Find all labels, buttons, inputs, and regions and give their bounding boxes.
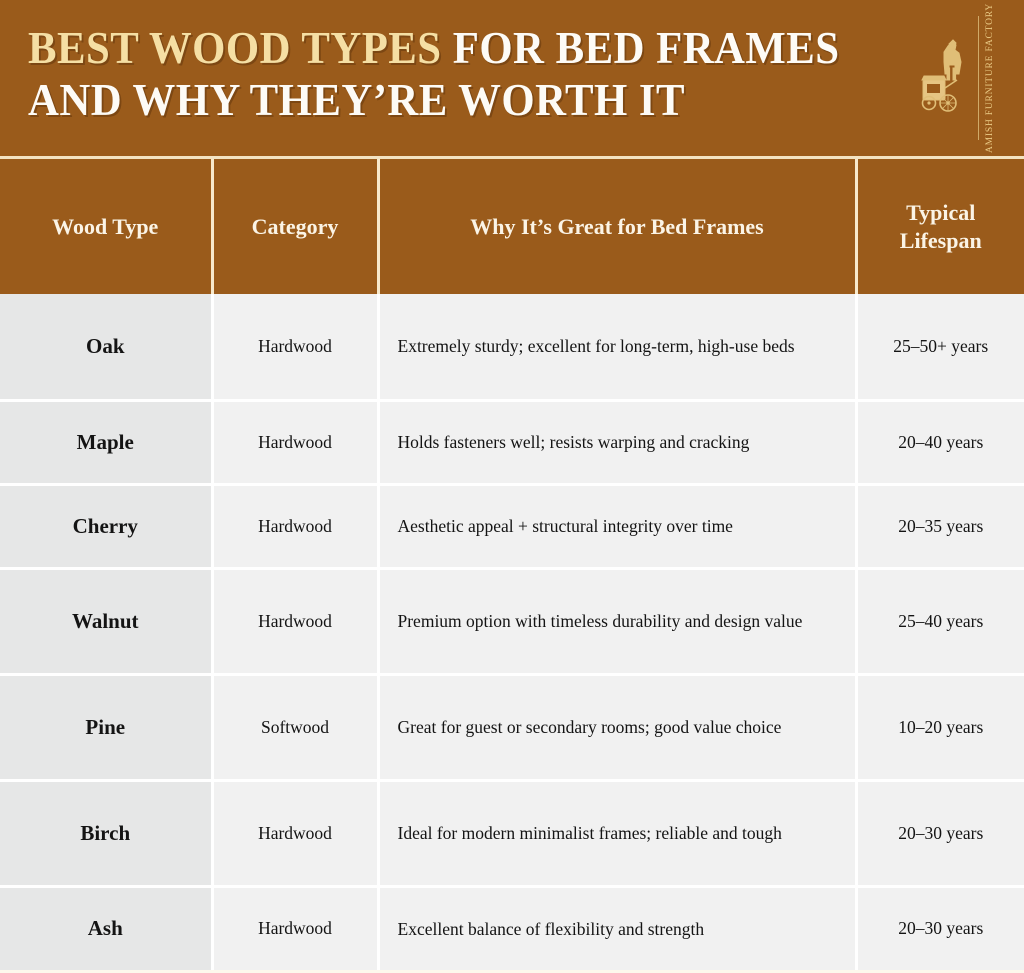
table-header-row: Wood Type Category Why It’s Great for Be… xyxy=(0,159,1024,294)
column-header-category: Category xyxy=(212,159,378,294)
cell-lifespan: 20–40 years xyxy=(856,400,1024,484)
cell-wood-type: Oak xyxy=(0,294,212,400)
cell-lifespan: 25–40 years xyxy=(856,568,1024,674)
cell-lifespan: 20–30 years xyxy=(856,780,1024,886)
cell-category: Hardwood xyxy=(212,568,378,674)
table-row: Walnut Hardwood Premium option with time… xyxy=(0,568,1024,674)
title-line-1-rest: FOR BED FRAMES xyxy=(453,22,840,73)
table-row: Cherry Hardwood Aesthetic appeal + struc… xyxy=(0,484,1024,568)
cell-category: Hardwood xyxy=(212,780,378,886)
cell-category: Hardwood xyxy=(212,294,378,400)
cell-lifespan: 20–35 years xyxy=(856,484,1024,568)
table-header: Wood Type Category Why It’s Great for Be… xyxy=(0,159,1024,294)
cell-category: Hardwood xyxy=(212,400,378,484)
logo-divider-rule xyxy=(978,16,979,140)
cell-reason: Excellent balance of flexibility and str… xyxy=(378,886,856,970)
cell-wood-type: Ash xyxy=(0,886,212,970)
cell-reason: Aesthetic appeal + structural integrity … xyxy=(378,484,856,568)
cell-lifespan: 20–30 years xyxy=(856,886,1024,970)
cell-category: Hardwood xyxy=(212,886,378,970)
cell-wood-type: Maple xyxy=(0,400,212,484)
table-row: Ash Hardwood Excellent balance of flexib… xyxy=(0,886,1024,970)
table-row: Birch Hardwood Ideal for modern minimali… xyxy=(0,780,1024,886)
column-header-lifespan: Typical Lifespan xyxy=(856,159,1024,294)
table-row: Maple Hardwood Holds fasteners well; res… xyxy=(0,400,1024,484)
cell-lifespan: 25–50+ years xyxy=(856,294,1024,400)
page-title: BEST WOOD TYPES FOR BED FRAMES AND WHY T… xyxy=(28,22,878,126)
cell-reason: Holds fasteners well; resists warping an… xyxy=(378,400,856,484)
column-header-reason: Why It’s Great for Bed Frames xyxy=(378,159,856,294)
title-line-1: BEST WOOD TYPES FOR BED FRAMES xyxy=(28,22,819,74)
brand-logo[interactable]: Amish Furniture Factory xyxy=(914,12,1006,144)
table-row: Oak Hardwood Extremely sturdy; excellent… xyxy=(0,294,1024,400)
logo-wordmark-text: Amish Furniture Factory xyxy=(985,3,995,153)
title-banner: BEST WOOD TYPES FOR BED FRAMES AND WHY T… xyxy=(0,0,1024,156)
cell-category: Softwood xyxy=(212,674,378,780)
cell-reason: Ideal for modern minimalist frames; reli… xyxy=(378,780,856,886)
cell-category: Hardwood xyxy=(212,484,378,568)
column-header-lifespan-line2: Lifespan xyxy=(900,228,982,253)
wood-comparison-table: Wood Type Category Why It’s Great for Be… xyxy=(0,159,1024,970)
column-header-lifespan-line1: Typical xyxy=(906,200,975,225)
horse-buggy-icon xyxy=(918,38,974,122)
title-accent-text: BEST WOOD TYPES xyxy=(28,22,442,73)
cell-wood-type: Cherry xyxy=(0,484,212,568)
cell-wood-type: Birch xyxy=(0,780,212,886)
wood-comparison-table-wrapper: Wood Type Category Why It’s Great for Be… xyxy=(0,156,1024,973)
cell-lifespan: 10–20 years xyxy=(856,674,1024,780)
logo-wordmark: Amish Furniture Factory xyxy=(980,12,1000,144)
table-row: Pine Softwood Great for guest or seconda… xyxy=(0,674,1024,780)
table-body: Oak Hardwood Extremely sturdy; excellent… xyxy=(0,294,1024,970)
cell-reason: Premium option with timeless durability … xyxy=(378,568,856,674)
title-plain-text xyxy=(442,22,453,73)
column-header-wood-type: Wood Type xyxy=(0,159,212,294)
title-line-2: AND WHY THEY’RE WORTH IT xyxy=(28,74,819,126)
cell-wood-type: Walnut xyxy=(0,568,212,674)
cell-wood-type: Pine xyxy=(0,674,212,780)
cell-reason: Great for guest or secondary rooms; good… xyxy=(378,674,856,780)
infographic-root: BEST WOOD TYPES FOR BED FRAMES AND WHY T… xyxy=(0,0,1024,973)
cell-reason: Extremely sturdy; excellent for long-ter… xyxy=(378,294,856,400)
